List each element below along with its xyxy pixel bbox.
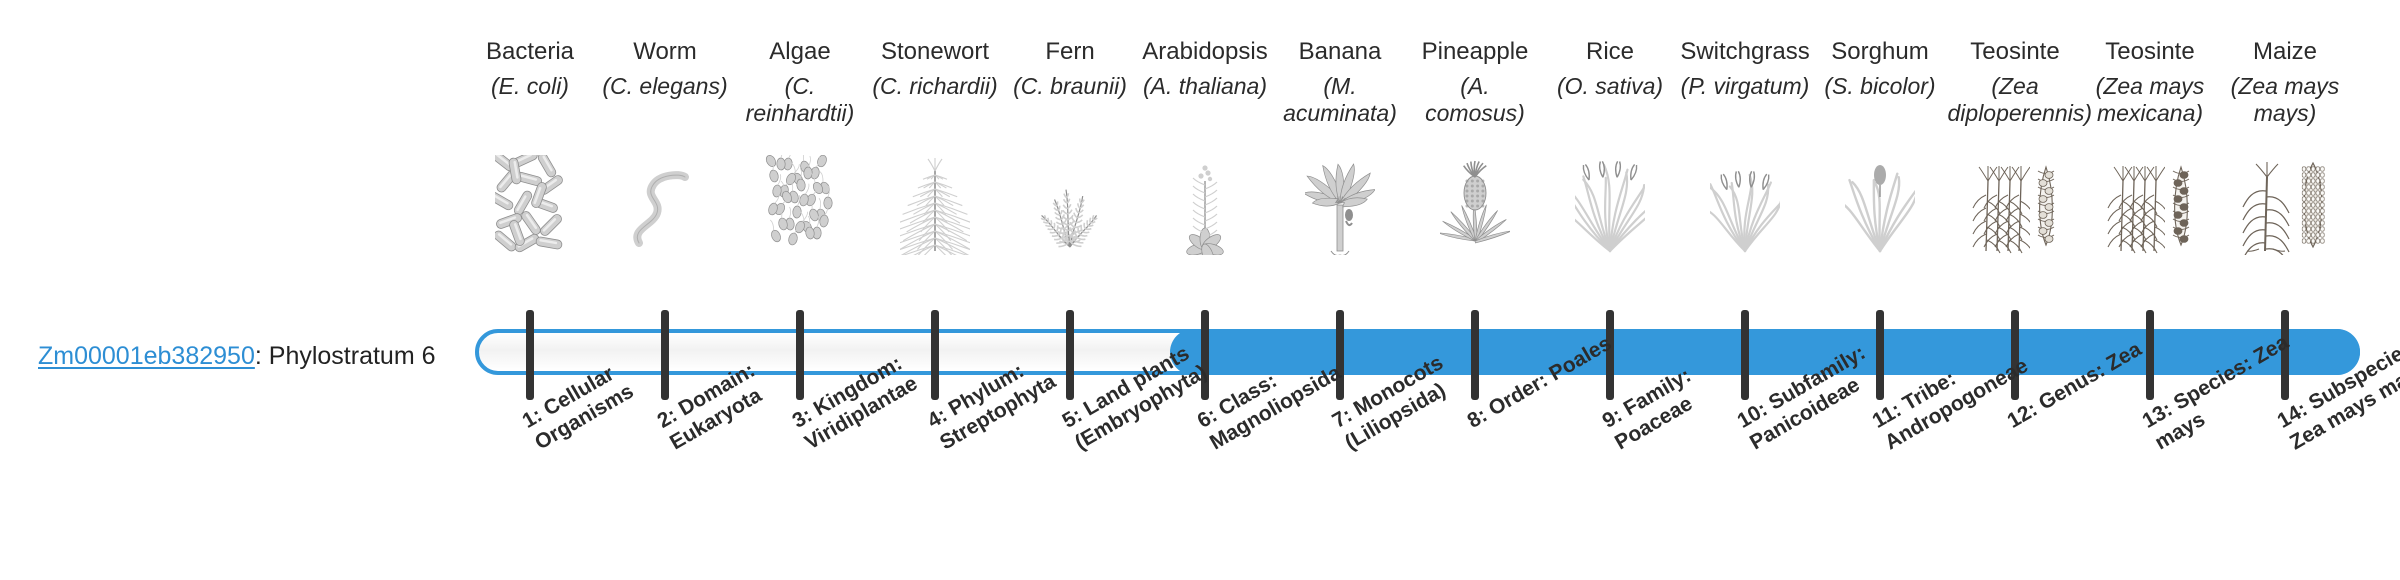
timeline: 1: Cellular Organisms2: Domain: Eukaryot… [0, 0, 2400, 580]
phylostratum-timeline-figure: Zm00001eb382950: Phylostratum 6 Bacteria… [0, 0, 2400, 580]
timeline-tick-1[interactable] [526, 310, 534, 400]
